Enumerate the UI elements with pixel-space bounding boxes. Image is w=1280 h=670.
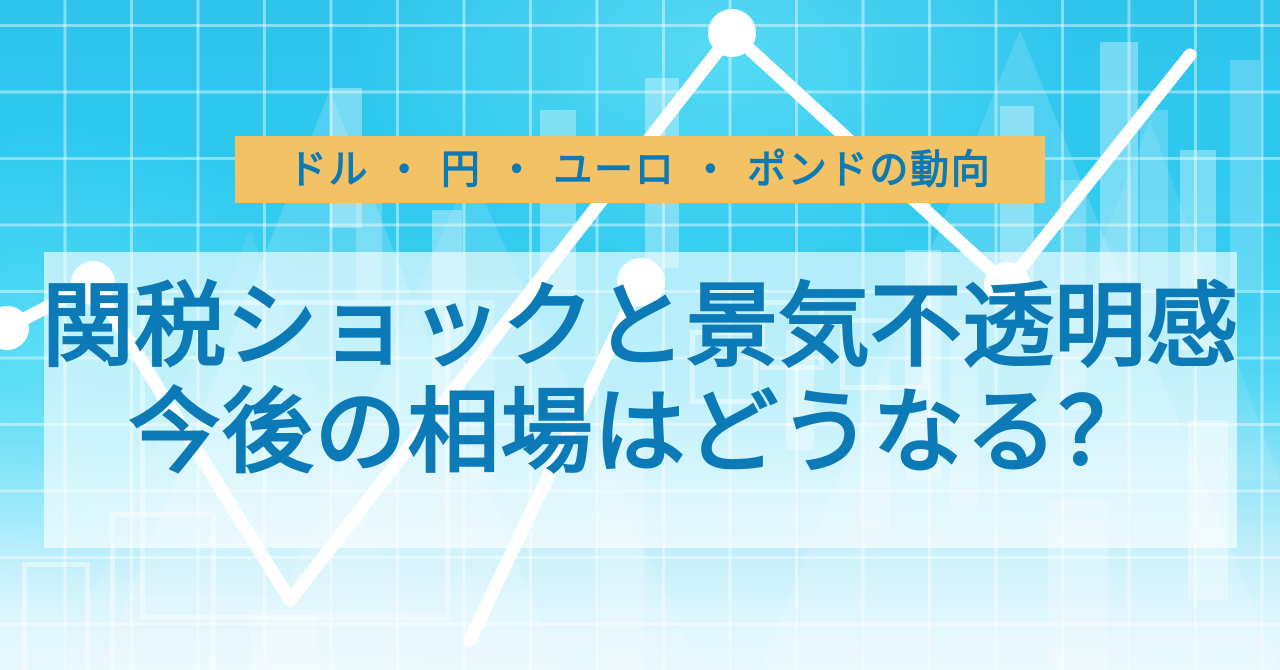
page-title: 関税ショックと景気不透明感 今後の相場はどうなる？ <box>0 281 1280 479</box>
circle-marker-icon <box>708 9 756 57</box>
subtitle-badge: ドル ・ 円 ・ ユーロ ・ ポンドの動向 <box>235 136 1045 203</box>
poster-canvas: ドル ・ 円 ・ ユーロ ・ ポンドの動向 関税ショックと景気不透明感 今後の相… <box>0 0 1280 670</box>
subtitle-badge-label: ドル ・ 円 ・ ユーロ ・ ポンドの動向 <box>288 150 992 190</box>
page-title-line-1: 関税ショックと景気不透明感 <box>0 281 1280 373</box>
page-title-line-2: 今後の相場はどうなる？ <box>0 387 1280 479</box>
